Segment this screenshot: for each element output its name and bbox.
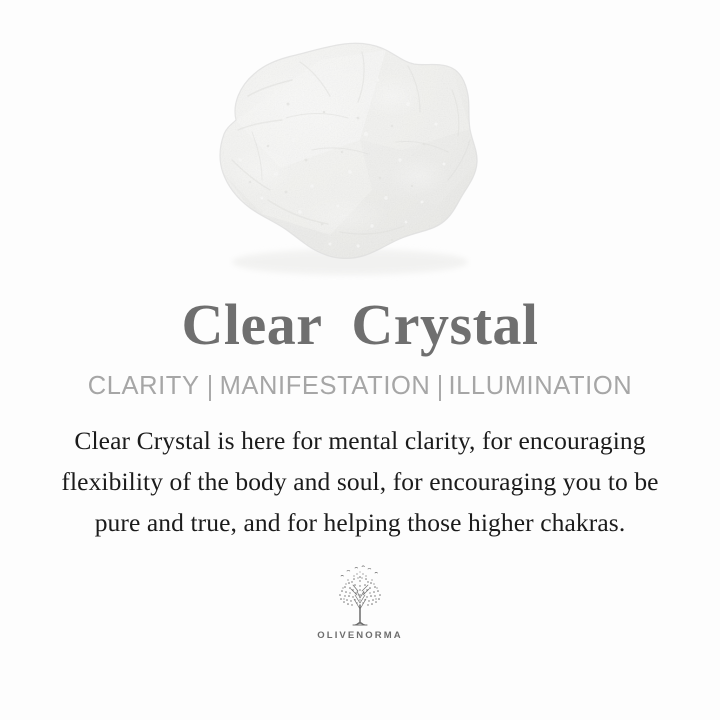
keyword-manifestation: MANIFESTATION <box>220 374 431 400</box>
olive-tree-icon <box>324 565 396 629</box>
product-image-container <box>0 0 720 292</box>
page-title: Clear Crystal <box>181 292 538 358</box>
brand-wordmark: OLIVENORMA <box>317 631 402 641</box>
keyword-clarity: CLARITY <box>88 374 200 400</box>
crystal-info-card: Clear Crystal CLARITY MANIFESTATION ILLU… <box>0 0 720 720</box>
keyword-separator-1 <box>209 375 211 401</box>
keyword-separator-2 <box>439 375 441 401</box>
keyword-list: CLARITY MANIFESTATION ILLUMINATION <box>88 372 633 402</box>
description-text: Clear Crystal is here for mental clarity… <box>40 420 680 543</box>
brand-logo: OLIVENORMA <box>317 565 402 641</box>
keyword-illumination: ILLUMINATION <box>448 374 632 400</box>
clear-crystal-rough-stone-icon <box>0 0 720 292</box>
